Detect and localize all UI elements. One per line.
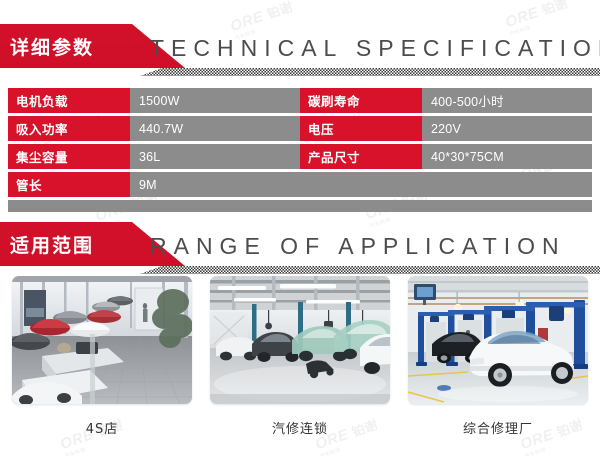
application-cards: 4S店 xyxy=(0,276,600,437)
car-dealership-showroom-photo xyxy=(12,276,192,404)
spec-key: 产品尺寸 xyxy=(300,144,422,169)
card-caption: 综合修理厂 xyxy=(463,418,533,437)
list-item[interactable]: 汽修连锁 xyxy=(210,276,390,437)
list-item[interactable]: 综合修理厂 xyxy=(408,276,588,437)
range-of-application-header: 适用范围 RANGE OF APPLICATION xyxy=(0,222,600,274)
technical-specification-header: 详细参数 TECHNICAL SPECIFICATION xyxy=(0,24,600,76)
table-footer-bar xyxy=(8,200,592,212)
table-row: 集尘容量 36L 产品尺寸 40*30*75CM xyxy=(8,144,592,169)
watermark-cjk-text: 铂谢 xyxy=(540,0,569,18)
spec-value: 36L xyxy=(130,144,300,169)
technical-specification-banner-label: 详细参数 xyxy=(0,33,94,60)
spec-key: 集尘容量 xyxy=(8,144,130,169)
spec-key: 电压 xyxy=(300,116,422,141)
range-of-application-english-title: RANGE OF APPLICATION xyxy=(150,226,566,266)
watermark-cjk-text: 铂谢 xyxy=(265,0,294,22)
spec-key: 吸入功率 xyxy=(8,116,130,141)
spec-value: 40*30*75CM xyxy=(422,144,592,169)
halftone-divider xyxy=(140,68,600,76)
table-row: 电机负载 1500W 碳刷寿命 400-500小时 xyxy=(8,88,592,113)
table-row-filler xyxy=(300,172,592,197)
spec-pair-left: 管长 9M xyxy=(8,172,300,197)
spec-value: 1500W xyxy=(130,88,300,113)
spec-pair-left: 集尘容量 36L xyxy=(8,144,300,169)
product-detail-page: ORE 铂谢 汽车科技 ORE 铂谢 汽车科技 ORE 铂谢 汽车科技 ORE … xyxy=(0,0,600,456)
spec-value: 440.7W xyxy=(130,116,300,141)
spec-value: 220V xyxy=(422,116,592,141)
spec-pair-right: 碳刷寿命 400-500小时 xyxy=(300,88,592,113)
halftone-divider xyxy=(140,266,600,274)
table-row: 吸入功率 440.7W 电压 220V xyxy=(8,116,592,141)
spec-value: 400-500小时 xyxy=(422,88,592,113)
spec-pair-right: 电压 220V xyxy=(300,116,592,141)
spec-pair-left: 电机负载 1500W xyxy=(8,88,300,113)
technical-specification-english-title: TECHNICAL SPECIFICATION xyxy=(150,28,600,68)
card-caption: 4S店 xyxy=(86,418,119,437)
spec-key: 管长 xyxy=(8,172,130,197)
list-item[interactable]: 4S店 xyxy=(12,276,192,437)
specification-table: 电机负载 1500W 碳刷寿命 400-500小时 吸入功率 440.7W 电压… xyxy=(8,88,592,212)
card-caption: 汽修连锁 xyxy=(272,418,328,437)
comprehensive-repair-factory-photo xyxy=(408,276,588,404)
spec-key: 碳刷寿命 xyxy=(300,88,422,113)
auto-repair-chain-workshop-photo xyxy=(210,276,390,404)
spec-key: 电机负载 xyxy=(8,88,130,113)
spec-pair-right: 产品尺寸 40*30*75CM xyxy=(300,144,592,169)
range-of-application-banner-label: 适用范围 xyxy=(0,231,94,258)
spec-value: 9M xyxy=(130,172,300,197)
spec-pair-left: 吸入功率 440.7W xyxy=(8,116,300,141)
table-row: 管长 9M xyxy=(8,172,592,197)
